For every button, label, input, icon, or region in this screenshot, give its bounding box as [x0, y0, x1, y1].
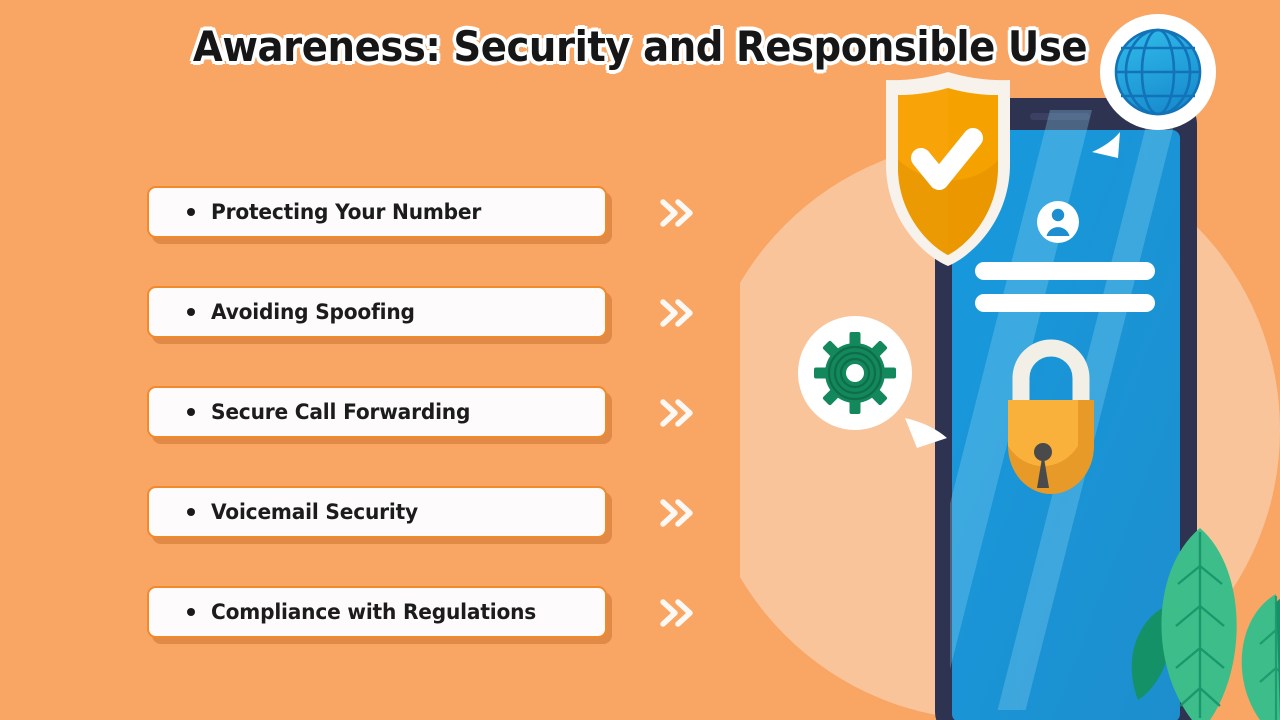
bullet-box[interactable]: Compliance with Regulations — [147, 586, 607, 638]
bullet-box[interactable]: Protecting Your Number — [147, 186, 607, 238]
bullet-dot-icon — [187, 508, 195, 516]
double-chevron-right-icon[interactable] — [655, 290, 699, 336]
security-illustration — [740, 0, 1280, 720]
double-chevron-right-icon[interactable] — [655, 390, 699, 436]
bullet-label: Voicemail Security — [211, 500, 418, 524]
list-item[interactable]: Avoiding Spoofing — [147, 286, 707, 340]
list-item[interactable]: Secure Call Forwarding — [147, 386, 707, 440]
bullet-dot-icon — [187, 208, 195, 216]
double-chevron-right-icon[interactable] — [655, 190, 699, 236]
bullet-label: Compliance with Regulations — [211, 600, 536, 624]
bullet-box[interactable]: Voicemail Security — [147, 486, 607, 538]
list-item[interactable]: Protecting Your Number — [147, 186, 707, 240]
user-avatar-icon — [1037, 201, 1079, 243]
bullet-label: Secure Call Forwarding — [211, 400, 470, 424]
double-chevron-right-icon[interactable] — [655, 590, 699, 636]
text-line-bar — [975, 294, 1155, 312]
bullet-dot-icon — [187, 608, 195, 616]
double-chevron-right-icon[interactable] — [655, 490, 699, 536]
bullet-dot-icon — [187, 308, 195, 316]
text-line-bar — [975, 262, 1155, 280]
list-item[interactable]: Compliance with Regulations — [147, 586, 707, 640]
bullet-label: Protecting Your Number — [211, 200, 481, 224]
bullet-dot-icon — [187, 408, 195, 416]
list-item[interactable]: Voicemail Security — [147, 486, 707, 540]
bullet-box[interactable]: Avoiding Spoofing — [147, 286, 607, 338]
bullet-box[interactable]: Secure Call Forwarding — [147, 386, 607, 438]
bullet-list: Protecting Your Number Avoiding Spoofing — [147, 186, 707, 686]
bullet-label: Avoiding Spoofing — [211, 300, 415, 324]
slide-canvas: Awareness: Security and Responsible Use … — [0, 0, 1280, 720]
